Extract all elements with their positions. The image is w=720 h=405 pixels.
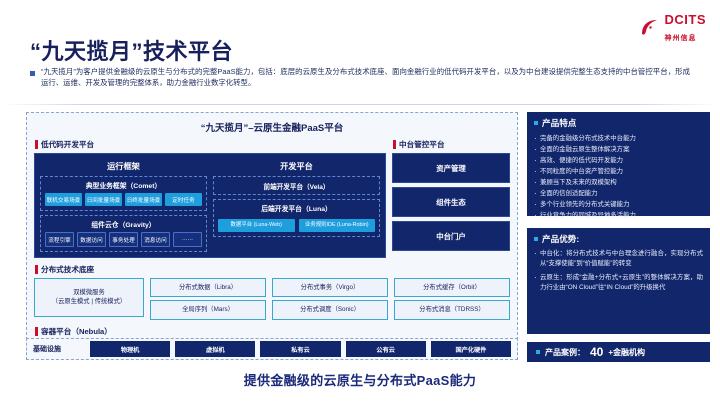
runtime-framework-column: 运行框架 典型业务框架（Comet） 联机交易场景 日间批量场景 日终批量场景 … <box>40 158 207 252</box>
gravity-chip[interactable]: 数据访问 <box>77 232 106 247</box>
square-bullet-icon <box>30 71 35 76</box>
infra-item-physical-machine[interactable]: 物理机 <box>90 341 170 357</box>
container-section-label: 容器平台（Nebula） <box>35 326 510 337</box>
luna-robin-chip[interactable]: 业务规则IDE (Luna-Robin) <box>299 219 376 232</box>
gravity-chip[interactable]: 流程引擎 <box>45 232 74 247</box>
midctrl-item-portal[interactable]: 中台门户 <box>392 221 510 251</box>
vela-frontend-bar[interactable]: 前端开发平台（Vela） <box>213 176 380 195</box>
comet-title: 典型业务框架（Comet） <box>45 180 202 193</box>
distributed-column: 分布式缓存（Orbit） 分布式消息（TDRSS） <box>394 278 510 320</box>
feature-item: 不同粒度的中台资产管控能力 <box>534 166 703 177</box>
development-platform-title: 开发平台 <box>213 158 380 176</box>
gravity-group: 组件云仓（Gravity） 流程引擎 数据访问 事务处理 消息访问 …… <box>40 215 207 252</box>
product-cases-number: 40 <box>590 345 603 359</box>
feature-item: 全面的金融云原生整体解决方案 <box>534 144 703 155</box>
dist-cell-virgo[interactable]: 分布式事务（Virgo） <box>272 278 388 297</box>
luna-web-chip[interactable]: 数据平台 (Luna-Web) <box>218 219 295 232</box>
distributed-column: 分布式事务（Virgo） 分布式调度（Sonic） <box>272 278 388 320</box>
product-cases-panel: 产品案例： 40 +金融机构 <box>527 342 710 362</box>
comet-chip[interactable]: 联机交易场景 <box>45 193 82 206</box>
diagram-title: “九天揽月”–云原生金融PaaS平台 <box>34 118 510 139</box>
gravity-title: 组件云仓（Gravity） <box>45 219 202 232</box>
product-advantages-panel: 产品优势: 中台化：将分布式技术与中台理念进行融合，实现分布式从“支撑使能”到“… <box>527 228 710 334</box>
distributed-column: 分布式数据（Libra） 全局序列（Mars） <box>150 278 266 320</box>
distributed-section-label: 分布式技术底座 <box>35 264 510 275</box>
comet-group: 典型业务框架（Comet） 联机交易场景 日间批量场景 日终批量场景 定时任务 <box>40 176 207 211</box>
dist-cell-mars[interactable]: 全局序列（Mars） <box>150 300 266 319</box>
feature-item: 行业竞争力的同城及异地多活能力 <box>534 210 703 221</box>
feature-item: 高效、便捷的低代码开发能力 <box>534 155 703 166</box>
dist-cell-libra[interactable]: 分布式数据（Libra） <box>150 278 266 297</box>
dist-cell-tdrss[interactable]: 分布式消息（TDRSS） <box>394 300 510 319</box>
dist-cell-sonic[interactable]: 分布式调度（Sonic） <box>272 300 388 319</box>
infra-item-private-cloud[interactable]: 私有云 <box>260 341 340 357</box>
brand-name-cn: 神州信息 <box>665 35 697 42</box>
infrastructure-section: 基础设施 物理机 虚拟机 私有云 公有云 国产化硬件 <box>26 338 518 360</box>
feature-item: 兼顾当下及未来的双模架构 <box>534 177 703 188</box>
intro-text: “九天揽月”为客户提供金融级的云原生与分布式的完整PaaS能力，包括：底层的云原… <box>41 66 690 89</box>
product-advantages-title: 产品优势: <box>534 233 703 249</box>
midplatform-control-section: 中台管控平台 资产管理 组件生态 中台门户 <box>392 139 510 258</box>
brand-logo: DCITS 神州信息 <box>639 12 707 44</box>
runtime-framework-title: 运行框架 <box>40 158 207 176</box>
architecture-diagram: “九天揽月”–云原生金融PaaS平台 低代码开发平台 运行框架 典型业务框架（C… <box>26 112 518 360</box>
feature-item: 完备的金融级分布式技术中台能力 <box>534 133 703 144</box>
gravity-chip[interactable]: 事务处理 <box>109 232 138 247</box>
footer-tagline: 提供金融级的云原生与分布式PaaS能力 <box>0 370 720 389</box>
feature-item: 全面的信创适配能力 <box>534 188 703 199</box>
lowcode-platform-section: 低代码开发平台 运行框架 典型业务框架（Comet） 联机交易场景 日间批量场景… <box>34 139 386 258</box>
infra-item-virtual-machine[interactable]: 虚拟机 <box>175 341 255 357</box>
infrastructure-label: 基础设施 <box>33 344 85 354</box>
header-divider <box>0 104 720 105</box>
luna-backend-title: 后端开发平台（Luna） <box>218 203 375 216</box>
product-cases-label: 产品案例： <box>545 347 585 358</box>
gravity-chip[interactable]: 消息访问 <box>141 232 170 247</box>
comet-chip[interactable]: 日终批量场景 <box>125 193 162 206</box>
midctrl-item-asset-management[interactable]: 资产管理 <box>392 153 510 183</box>
advantage-item: 中台化：将分布式技术与中台理念进行融合，实现分布式从“支撑使能”到“价值赋能”的… <box>534 249 703 270</box>
product-features-title: 产品特点 <box>534 117 703 133</box>
page-title: “九天揽月”技术平台 <box>30 34 233 66</box>
dcits-logo-icon <box>639 17 661 39</box>
product-features-panel: 产品特点 完备的金融级分布式技术中台能力 全面的金融云原生整体解决方案 高效、便… <box>527 112 710 216</box>
dist-cell-orbit[interactable]: 分布式缓存（Orbit） <box>394 278 510 297</box>
brand-name-en: DCITS <box>665 12 707 27</box>
gravity-chip-more[interactable]: …… <box>173 232 202 247</box>
product-cases-unit: +金融机构 <box>608 347 645 358</box>
midctrl-section-label: 中台管控平台 <box>393 139 510 150</box>
development-platform-column: 开发平台 前端开发平台（Vela） 后端开发平台（Luna） 数据平台 (Lun… <box>213 158 380 252</box>
comet-chip[interactable]: 日间批量场景 <box>85 193 122 206</box>
intro-paragraph: “九天揽月”为客户提供金融级的云原生与分布式的完整PaaS能力，包括：底层的云原… <box>30 66 690 89</box>
comet-chip[interactable]: 定时任务 <box>165 193 202 206</box>
infra-item-domestic-hardware[interactable]: 国产化硬件 <box>431 341 511 357</box>
luna-backend-group: 后端开发平台（Luna） 数据平台 (Luna-Web) 业务规则IDE (Lu… <box>213 199 380 237</box>
advantage-item: 云原生：形成“金融+分布式+云原生”的整体解决方案，助力行业由“ON Cloud… <box>534 273 703 294</box>
midctrl-item-component-ecosystem[interactable]: 组件生态 <box>392 187 510 217</box>
square-bullet-icon <box>536 350 540 354</box>
dual-mode-microservice-cell[interactable]: 双模微服务 （云原生模式 | 传统模式） <box>34 278 144 317</box>
feature-item: 多个行业领先的分布式关键能力 <box>534 199 703 210</box>
distributed-base-section: 分布式技术底座 双模微服务 （云原生模式 | 传统模式） 分布式数据（Libra… <box>34 264 510 320</box>
infra-item-public-cloud[interactable]: 公有云 <box>346 341 426 357</box>
lowcode-section-label: 低代码开发平台 <box>35 139 386 150</box>
